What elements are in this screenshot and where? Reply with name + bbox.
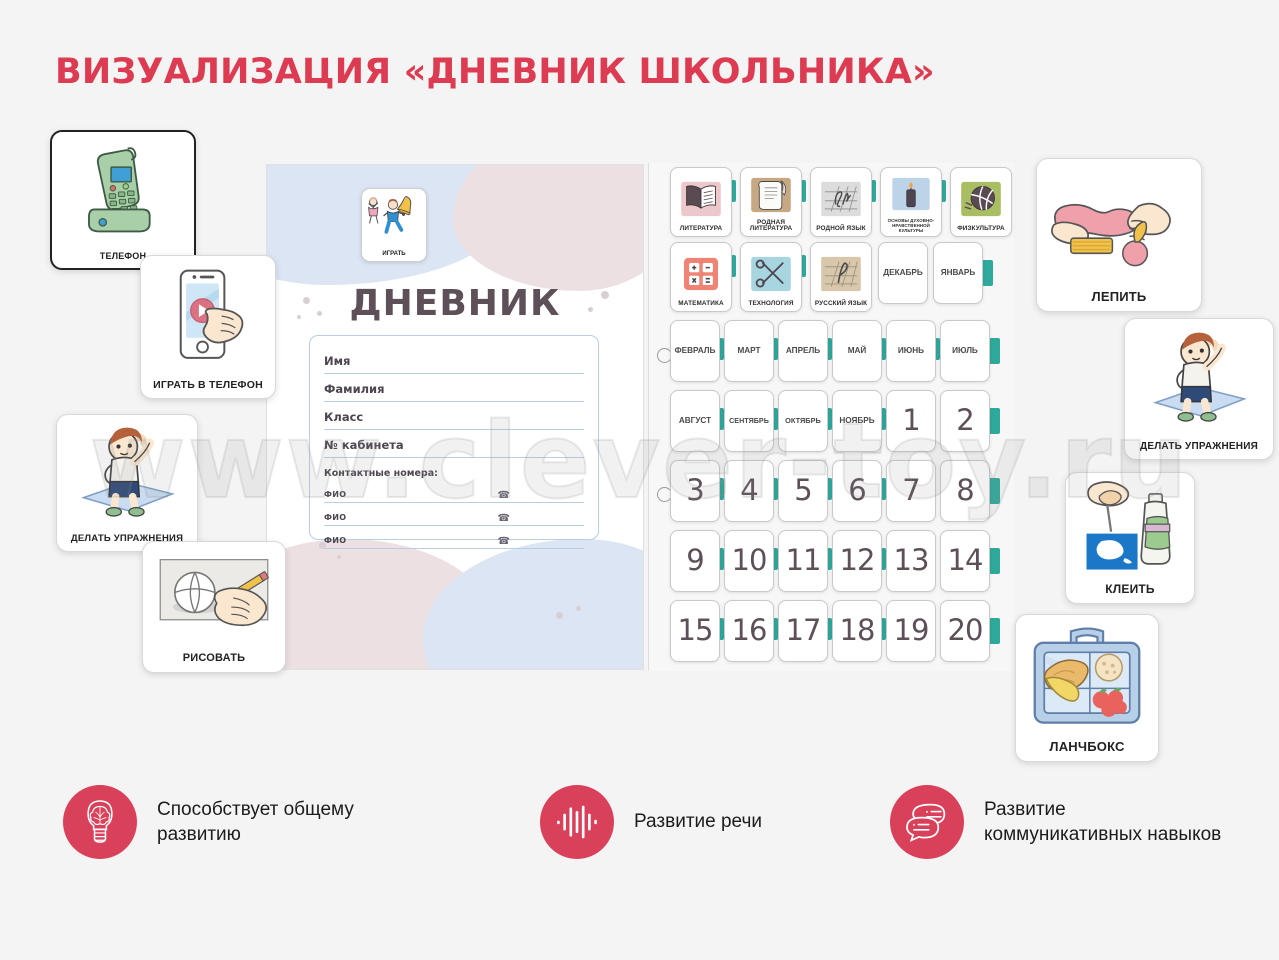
field-label-room: № кабинета — [324, 438, 404, 452]
feature-label: Развитие речи — [634, 809, 762, 834]
tile-label: ЯНВАРЬ — [934, 269, 982, 277]
feature-label: Способствует общему развитию — [157, 797, 402, 847]
tile-subject-russian-language[interactable]: РУССКИЙ ЯЗЫК — [810, 242, 872, 312]
tile-label: 6 — [833, 476, 881, 506]
decor-blob-pink-top — [453, 164, 644, 291]
diary-play-card-label: ИГРАТЬ — [382, 251, 405, 261]
diary-play-card[interactable]: ИГРАТЬ — [361, 188, 427, 262]
tile-subject-native-language[interactable]: РОДНОЙ ЯЗЫК — [810, 167, 872, 237]
diary-board: ИГРАТЬ ДНЕВНИК Имя Фамилия Класс № кабин… — [266, 164, 644, 670]
hand-pencil-drawing-ball-icon — [143, 542, 285, 651]
tile-number-11[interactable]: 11 — [778, 530, 828, 592]
tile-label: СЕНТЯБРЬ — [725, 417, 773, 424]
tile-number-1[interactable]: 1 — [886, 390, 936, 452]
card-lunchbox[interactable]: ЛАНЧБОКС — [1015, 614, 1159, 762]
tile-month-january[interactable]: ЯНВАРЬ — [933, 242, 983, 304]
tile-subject-mathematics[interactable]: МАТЕМАТИКА — [670, 242, 732, 312]
glue-bottle-brush-icon — [1066, 473, 1194, 581]
tile-month-july[interactable]: ИЮЛЬ — [940, 320, 990, 382]
contacts-header-label: Контактные номера: — [324, 468, 438, 479]
poster-canvas: ВИЗУАЛИЗАЦИЯ «ДНЕВНИК ШКОЛЬНИКА» — [0, 0, 1279, 960]
card-label: РИСОВАТЬ — [143, 651, 285, 672]
tile-subject-literature[interactable]: ЛИТЕРАТУРА — [670, 167, 732, 237]
card-do-exercises-right[interactable]: ДЕЛАТЬ УПРАЖНЕНИЯ — [1124, 318, 1274, 460]
tile-label: 14 — [941, 546, 989, 576]
contact-label: ФИО — [324, 490, 346, 499]
teal-strip — [989, 548, 1000, 574]
tile-label: 20 — [941, 616, 989, 646]
decor-dot — [337, 555, 341, 559]
tile-number-5[interactable]: 5 — [778, 460, 828, 522]
tile-number-15[interactable]: 15 — [670, 600, 720, 662]
phone-ring-icon: ☎ — [498, 514, 510, 524]
card-label: ДЕЛАТЬ УПРАЖНЕНИЯ — [1125, 440, 1273, 460]
tile-number-14[interactable]: 14 — [940, 530, 990, 592]
tile-label: 16 — [725, 616, 773, 646]
tile-label: РОДНАЯ ЛИТЕРАТУРА — [741, 220, 801, 236]
tile-label: МАТЕМАТИКА — [671, 301, 731, 311]
field-row-room[interactable]: № кабинета — [324, 430, 584, 458]
card-label: ЛАНЧБОКС — [1016, 738, 1158, 761]
tile-month-august[interactable]: АВГУСТ — [670, 390, 720, 452]
contact-row[interactable]: ФИО ☎ — [324, 480, 584, 503]
tile-number-7[interactable]: 7 — [886, 460, 936, 522]
tile-subject-technology[interactable]: ТЕХНОЛОГИЯ — [740, 242, 802, 312]
candle-icon — [881, 168, 941, 218]
tile-number-17[interactable]: 17 — [778, 600, 828, 662]
card-telephone[interactable]: ТЕЛЕФОН — [50, 130, 196, 270]
field-row-name[interactable]: Имя — [324, 346, 584, 374]
tile-month-may[interactable]: МАЙ — [832, 320, 882, 382]
phone-ring-icon: ☎ — [498, 491, 510, 501]
card-play-on-phone[interactable]: ИГРАТЬ В ТЕЛЕФОН — [140, 255, 276, 399]
tile-month-october[interactable]: ОКТЯБРЬ — [778, 390, 828, 452]
card-draw[interactable]: РИСОВАТЬ — [142, 541, 286, 673]
tile-subject-physical-education[interactable]: ФИЗКУЛЬТУРА — [950, 167, 1012, 237]
tile-number-16[interactable]: 16 — [724, 600, 774, 662]
sound-waveform-icon — [540, 785, 614, 859]
decor-blob-blue-bottom — [423, 539, 644, 670]
lightbulb-brain-icon — [63, 785, 137, 859]
diary-form: Имя Фамилия Класс № кабинета Контактные … — [309, 335, 599, 540]
tile-month-september[interactable]: СЕНТЯБРЬ — [724, 390, 774, 452]
card-glue[interactable]: КЛЕИТЬ — [1065, 472, 1195, 604]
feature-communication-skills: Развитие коммуникативных навыков — [890, 785, 1224, 859]
card-label: ЛЕПИТЬ — [1037, 288, 1201, 311]
page-title: ВИЗУАЛИЗАЦИЯ «ДНЕВНИК ШКОЛЬНИКА» — [55, 52, 935, 92]
tile-number-10[interactable]: 10 — [724, 530, 774, 592]
tile-label: ИЮЛЬ — [941, 347, 989, 355]
tile-number-9[interactable]: 9 — [670, 530, 720, 592]
decor-dot — [576, 606, 581, 611]
field-label-surname: Фамилия — [324, 382, 385, 396]
tile-number-6[interactable]: 6 — [832, 460, 882, 522]
tile-number-19[interactable]: 19 — [886, 600, 936, 662]
tile-label: ФЕВРАЛЬ — [671, 347, 719, 355]
tile-number-12[interactable]: 12 — [832, 530, 882, 592]
tile-number-13[interactable]: 13 — [886, 530, 936, 592]
feature-general-development: Способствует общему развитию — [63, 785, 402, 859]
teal-strip — [982, 260, 993, 286]
tile-label: МАРТ — [725, 347, 773, 355]
calculator-icon — [671, 243, 731, 301]
scroll-quill-icon — [741, 168, 801, 220]
teal-strip — [989, 408, 1000, 434]
field-label-class: Класс — [324, 410, 363, 424]
tile-label: ФИЗКУЛЬТУРА — [951, 226, 1011, 236]
tile-month-december[interactable]: ДЕКАБРЬ — [878, 242, 928, 304]
card-label: ИГРАТЬ В ТЕЛЕФОН — [141, 378, 275, 398]
volleyball-icon — [951, 168, 1011, 226]
feature-speech-development: Развитие речи — [540, 785, 762, 859]
teal-strip — [989, 478, 1000, 504]
tile-label: ТЕХНОЛОГИЯ — [741, 301, 801, 311]
tile-month-february[interactable]: ФЕВРАЛЬ — [670, 320, 720, 382]
decor-dot — [556, 612, 563, 619]
tile-number-2[interactable]: 2 — [940, 390, 990, 452]
tile-label: 19 — [887, 616, 935, 646]
decor-blob-pink-bottom — [266, 539, 497, 670]
tile-number-3[interactable]: 3 — [670, 460, 720, 522]
tile-label: 17 — [779, 616, 827, 646]
tile-label: АВГУСТ — [671, 417, 719, 425]
tile-label: 13 — [887, 546, 935, 576]
tile-label: 7 — [887, 476, 935, 506]
tile-label: ОКТЯБРЬ — [779, 417, 827, 425]
tile-label: ОСНОВЫ ДУХОВНО-НРАВСТВЕННОЙ КУЛЬТУРЫ — [880, 218, 942, 236]
field-row-surname[interactable]: Фамилия — [324, 374, 584, 402]
teal-strip — [989, 338, 1000, 364]
contact-row[interactable]: ФИО ☎ — [324, 503, 584, 526]
tile-month-april[interactable]: АПРЕЛЬ — [778, 320, 828, 382]
tile-label: 18 — [833, 616, 881, 646]
tile-subject-native-literature[interactable]: РОДНАЯ ЛИТЕРАТУРА — [740, 167, 802, 237]
tile-month-june[interactable]: ИЮНЬ — [886, 320, 936, 382]
tile-label: 11 — [779, 546, 827, 576]
tile-label: РУССКИЙ ЯЗЫК — [811, 301, 871, 311]
tile-label: НОЯБРЬ — [833, 417, 881, 425]
contact-row[interactable]: ФИО ☎ — [324, 526, 584, 549]
tile-label: 15 — [671, 616, 719, 646]
feature-label: Развитие коммуникативных навыков — [984, 797, 1224, 847]
tile-month-march[interactable]: МАРТ — [724, 320, 774, 382]
card-do-exercises-left[interactable]: ДЕЛАТЬ УПРАЖНЕНИЯ — [56, 414, 198, 552]
tile-label: 12 — [833, 546, 881, 576]
tile-label: 8 — [941, 476, 989, 506]
contact-label: ФИО — [324, 513, 346, 522]
boy-stretching-mat-icon — [57, 415, 197, 532]
tile-subject-spiritual-culture[interactable]: ОСНОВЫ ДУХОВНО-НРАВСТВЕННОЙ КУЛЬТУРЫ — [880, 167, 942, 237]
card-model-clay[interactable]: ЛЕПИТЬ — [1036, 158, 1202, 312]
contact-label: ФИО — [324, 536, 346, 545]
card-label: КЛЕИТЬ — [1066, 581, 1194, 603]
tile-label: 10 — [725, 546, 773, 576]
lunchbox-food-icon — [1016, 615, 1158, 738]
contacts-header: Контактные номера: — [324, 458, 584, 480]
open-book-icon — [671, 168, 731, 226]
tile-label: ИЮНЬ — [887, 347, 935, 355]
cursive-letter-r-icon — [811, 243, 871, 301]
smartphone-hand-tap-icon — [141, 256, 275, 378]
tile-label: 2 — [941, 406, 989, 436]
tile-label: РОДНОЙ ЯЗЫК — [811, 226, 871, 236]
field-row-class[interactable]: Класс — [324, 402, 584, 430]
cordless-phone-icon — [52, 132, 194, 250]
tile-month-november[interactable]: НОЯБРЬ — [832, 390, 882, 452]
field-label-name: Имя — [324, 354, 350, 368]
boy-stretching-mat-icon — [1125, 319, 1273, 440]
tile-label: 3 — [671, 476, 719, 506]
tile-label: 4 — [725, 476, 773, 506]
tile-number-20[interactable]: 20 — [940, 600, 990, 662]
diary-heading: ДНЕВНИК — [267, 283, 643, 324]
cursive-letters-icon — [811, 168, 871, 226]
tile-number-8[interactable]: 8 — [940, 460, 990, 522]
hands-clay-modelling-icon — [1037, 159, 1201, 288]
scissors-icon — [741, 243, 801, 301]
tile-label: МАЙ — [833, 347, 881, 355]
speech-bubbles-icon — [890, 785, 964, 859]
tile-label: АПРЕЛЬ — [779, 347, 827, 355]
tile-label: 9 — [671, 546, 719, 576]
tile-label: 1 — [887, 406, 935, 436]
tile-label: ДЕКАБРЬ — [879, 269, 927, 277]
tile-number-18[interactable]: 18 — [832, 600, 882, 662]
teal-strip — [989, 618, 1000, 644]
tile-label: 5 — [779, 476, 827, 506]
tile-number-4[interactable]: 4 — [724, 460, 774, 522]
children-playing-bell-icon — [362, 189, 426, 251]
phone-ring-icon: ☎ — [498, 537, 510, 547]
tile-label: ЛИТЕРАТУРА — [671, 226, 731, 236]
